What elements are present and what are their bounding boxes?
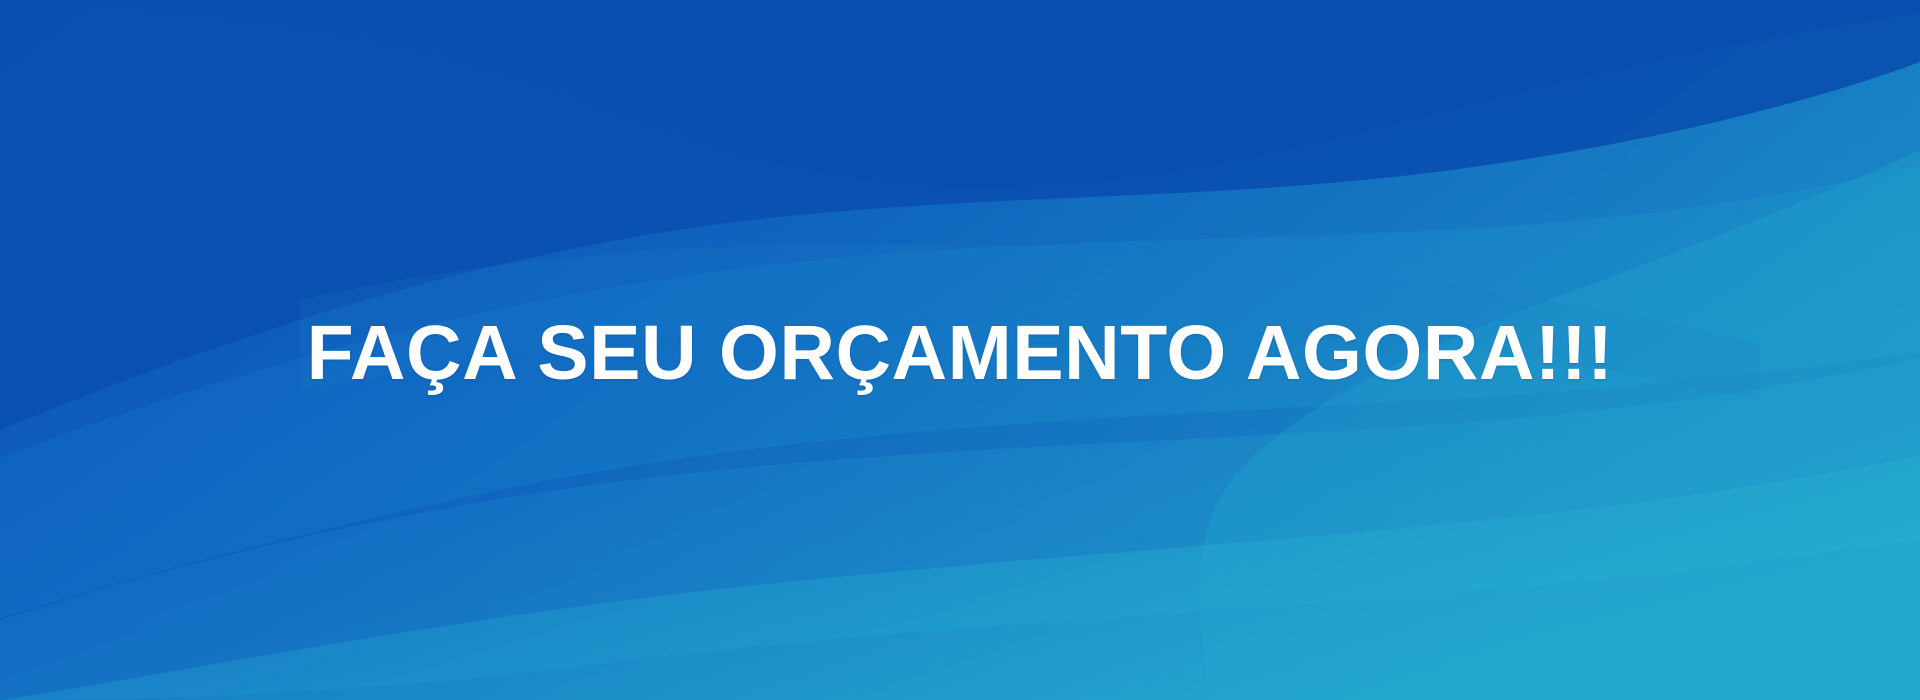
banner-headline: FAÇA SEU ORÇAMENTO AGORA!!! [307, 315, 1614, 392]
promo-banner: FAÇA SEU ORÇAMENTO AGORA!!! [0, 0, 1920, 700]
headline-container: FAÇA SEU ORÇAMENTO AGORA!!! [0, 0, 1920, 700]
